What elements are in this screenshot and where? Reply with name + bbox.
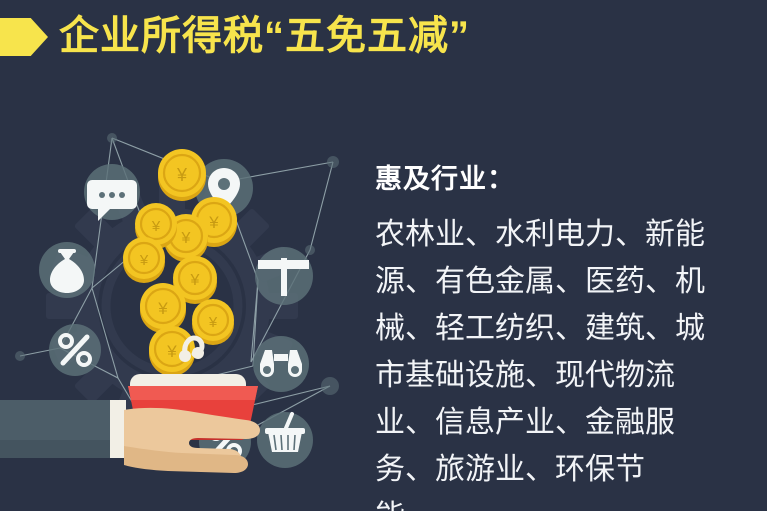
svg-text:¥: ¥ [166,342,177,361]
percent-icon [49,324,101,376]
svg-text:¥: ¥ [157,299,168,318]
info-heading: 惠及行业： [375,160,725,198]
infographic-page: 企业所得税“五免五减” [0,0,767,511]
info-panel: 惠及行业： 农林业、水利电力、新能源、有色金属、医药、机械、轻工纺织、建筑、城市… [375,160,725,511]
shopping-basket-icon [257,412,313,468]
tax-benefit-illustration: ¥ ¥ ¥ ¥ [0,110,360,475]
industry-list-text: 农林业、水利电力、新能源、有色金属、医药、机械、轻工纺织、建筑、城市基础设施、现… [375,211,720,511]
signpost-icon [255,247,313,305]
svg-text:¥: ¥ [190,272,200,289]
money-bag-icon [39,242,95,298]
svg-text:¥: ¥ [208,314,218,331]
svg-text:¥: ¥ [151,218,161,235]
svg-text:¥: ¥ [139,252,149,269]
page-title: 企业所得税“五免五减” [59,9,470,63]
header-bar: 企业所得税“五免五减” [0,0,767,72]
svg-text:¥: ¥ [176,165,188,185]
svg-text:¥: ¥ [181,230,191,247]
chevron-right-arrow-icon [0,18,48,56]
binoculars-icon [253,336,309,392]
svg-text:¥: ¥ [208,213,219,232]
